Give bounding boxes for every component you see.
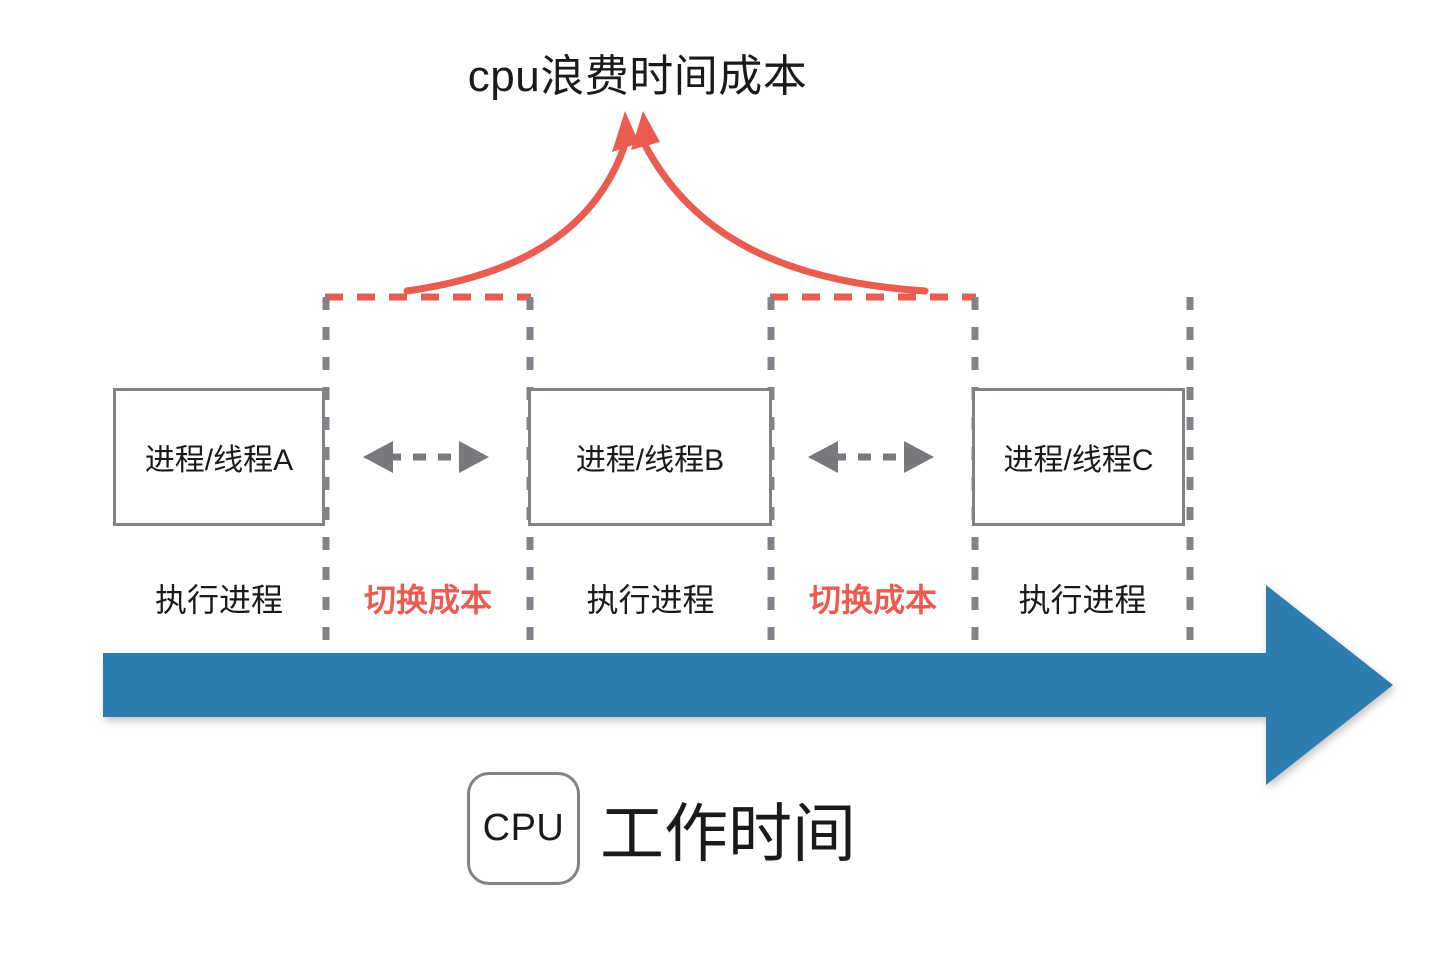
- process-box-c: 进程/线程C: [972, 388, 1185, 526]
- process-box-a: 进程/线程A: [113, 388, 325, 526]
- phase-label-run-3: 执行进程: [975, 575, 1190, 621]
- timeline-caption: 工作时间: [600, 783, 856, 875]
- process-box-b-label: 进程/线程B: [576, 435, 724, 479]
- callout-arrowhead-right: [631, 111, 660, 150]
- phase-label-cost-1: 切换成本: [326, 575, 530, 621]
- cpu-chip: CPU: [467, 772, 580, 885]
- phase-label-run-2: 执行进程: [530, 575, 771, 621]
- diagram-title: cpu浪费时间成本: [0, 40, 1275, 104]
- process-box-b: 进程/线程B: [528, 388, 772, 526]
- phase-label-cost-2: 切换成本: [771, 575, 975, 621]
- callout-curve-left: [407, 135, 628, 291]
- switch-arrow-2: [808, 441, 934, 473]
- cpu-chip-label: CPU: [483, 807, 565, 850]
- switch-arrow-1: [363, 441, 489, 473]
- phase-label-run-1: 执行进程: [113, 575, 325, 621]
- process-box-c-label: 进程/线程C: [1004, 435, 1154, 479]
- diagram-canvas: cpu浪费时间成本 进程/线程A 进程/线程B 进程/线程C 执行进程 切换成本…: [0, 0, 1442, 976]
- callout-curve-right: [640, 135, 925, 291]
- process-box-a-label: 进程/线程A: [145, 435, 293, 479]
